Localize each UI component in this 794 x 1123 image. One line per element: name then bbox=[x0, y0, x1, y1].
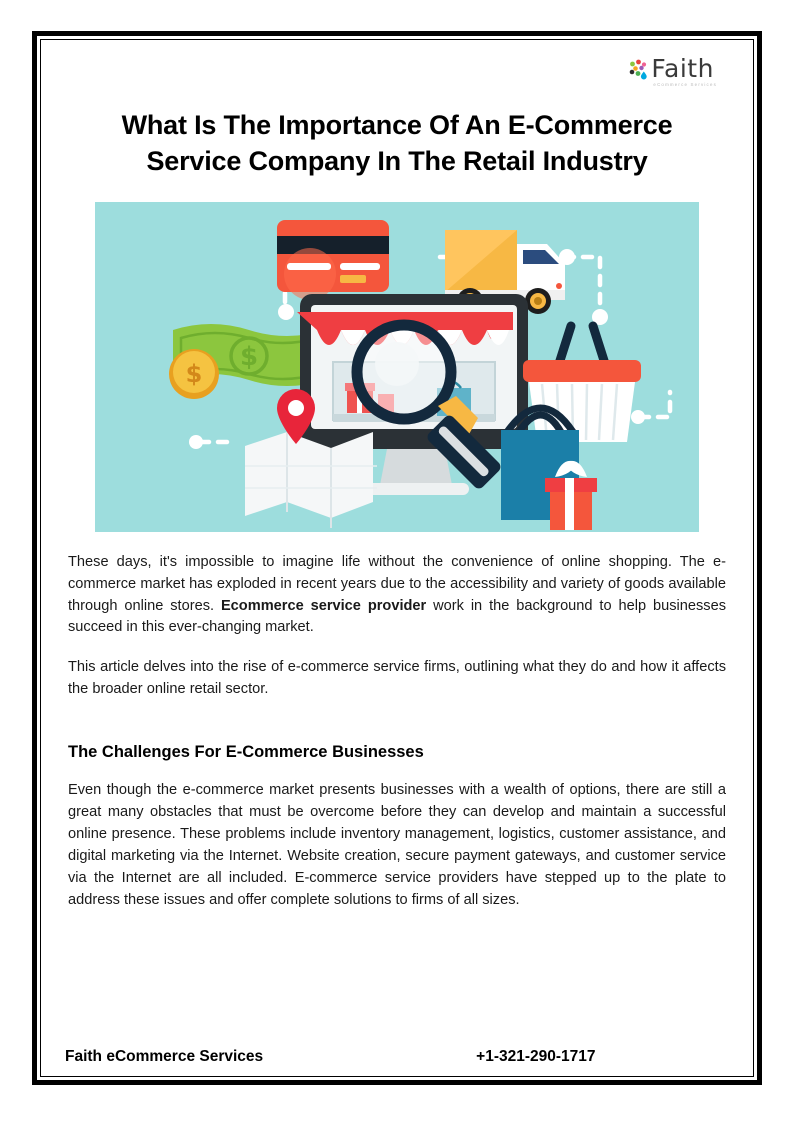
header-logo-row: Faith eCommerce Services bbox=[65, 46, 729, 98]
ecommerce-illustration-svg: $ $ bbox=[95, 202, 699, 532]
logo-dots-icon bbox=[629, 59, 649, 83]
logo-wordmark: Faith bbox=[651, 56, 717, 81]
page-footer: Faith eCommerce Services +1-321-290-1717 bbox=[65, 1048, 729, 1066]
paragraph-intro: These days, it's impossible to imagine l… bbox=[65, 552, 729, 640]
ecommerce-illustration: $ $ bbox=[95, 202, 699, 532]
faith-logo: Faith eCommerce Services bbox=[629, 56, 717, 87]
paragraph-challenges: Even though the e-commerce market presen… bbox=[65, 780, 729, 911]
svg-text:$: $ bbox=[186, 360, 203, 388]
page-title: What Is The Importance Of An E-Commerce … bbox=[73, 108, 721, 180]
svg-text:$: $ bbox=[240, 342, 258, 372]
footer-phone: +1-321-290-1717 bbox=[476, 1048, 595, 1066]
bold-keyword: Ecommerce service provider bbox=[221, 598, 426, 614]
logo-subtitle: eCommerce Services bbox=[653, 83, 717, 87]
section-heading-challenges: The Challenges For E-Commerce Businesses bbox=[65, 743, 729, 762]
paragraph-article-scope: This article delves into the rise of e-c… bbox=[65, 657, 729, 701]
page-border: Faith eCommerce Services What Is The Imp… bbox=[32, 31, 762, 1085]
footer-brand: Faith eCommerce Services bbox=[65, 1048, 263, 1066]
credit-card bbox=[277, 220, 389, 300]
page-content: Faith eCommerce Services What Is The Imp… bbox=[37, 36, 757, 1080]
logo-text-block: Faith eCommerce Services bbox=[651, 56, 717, 87]
